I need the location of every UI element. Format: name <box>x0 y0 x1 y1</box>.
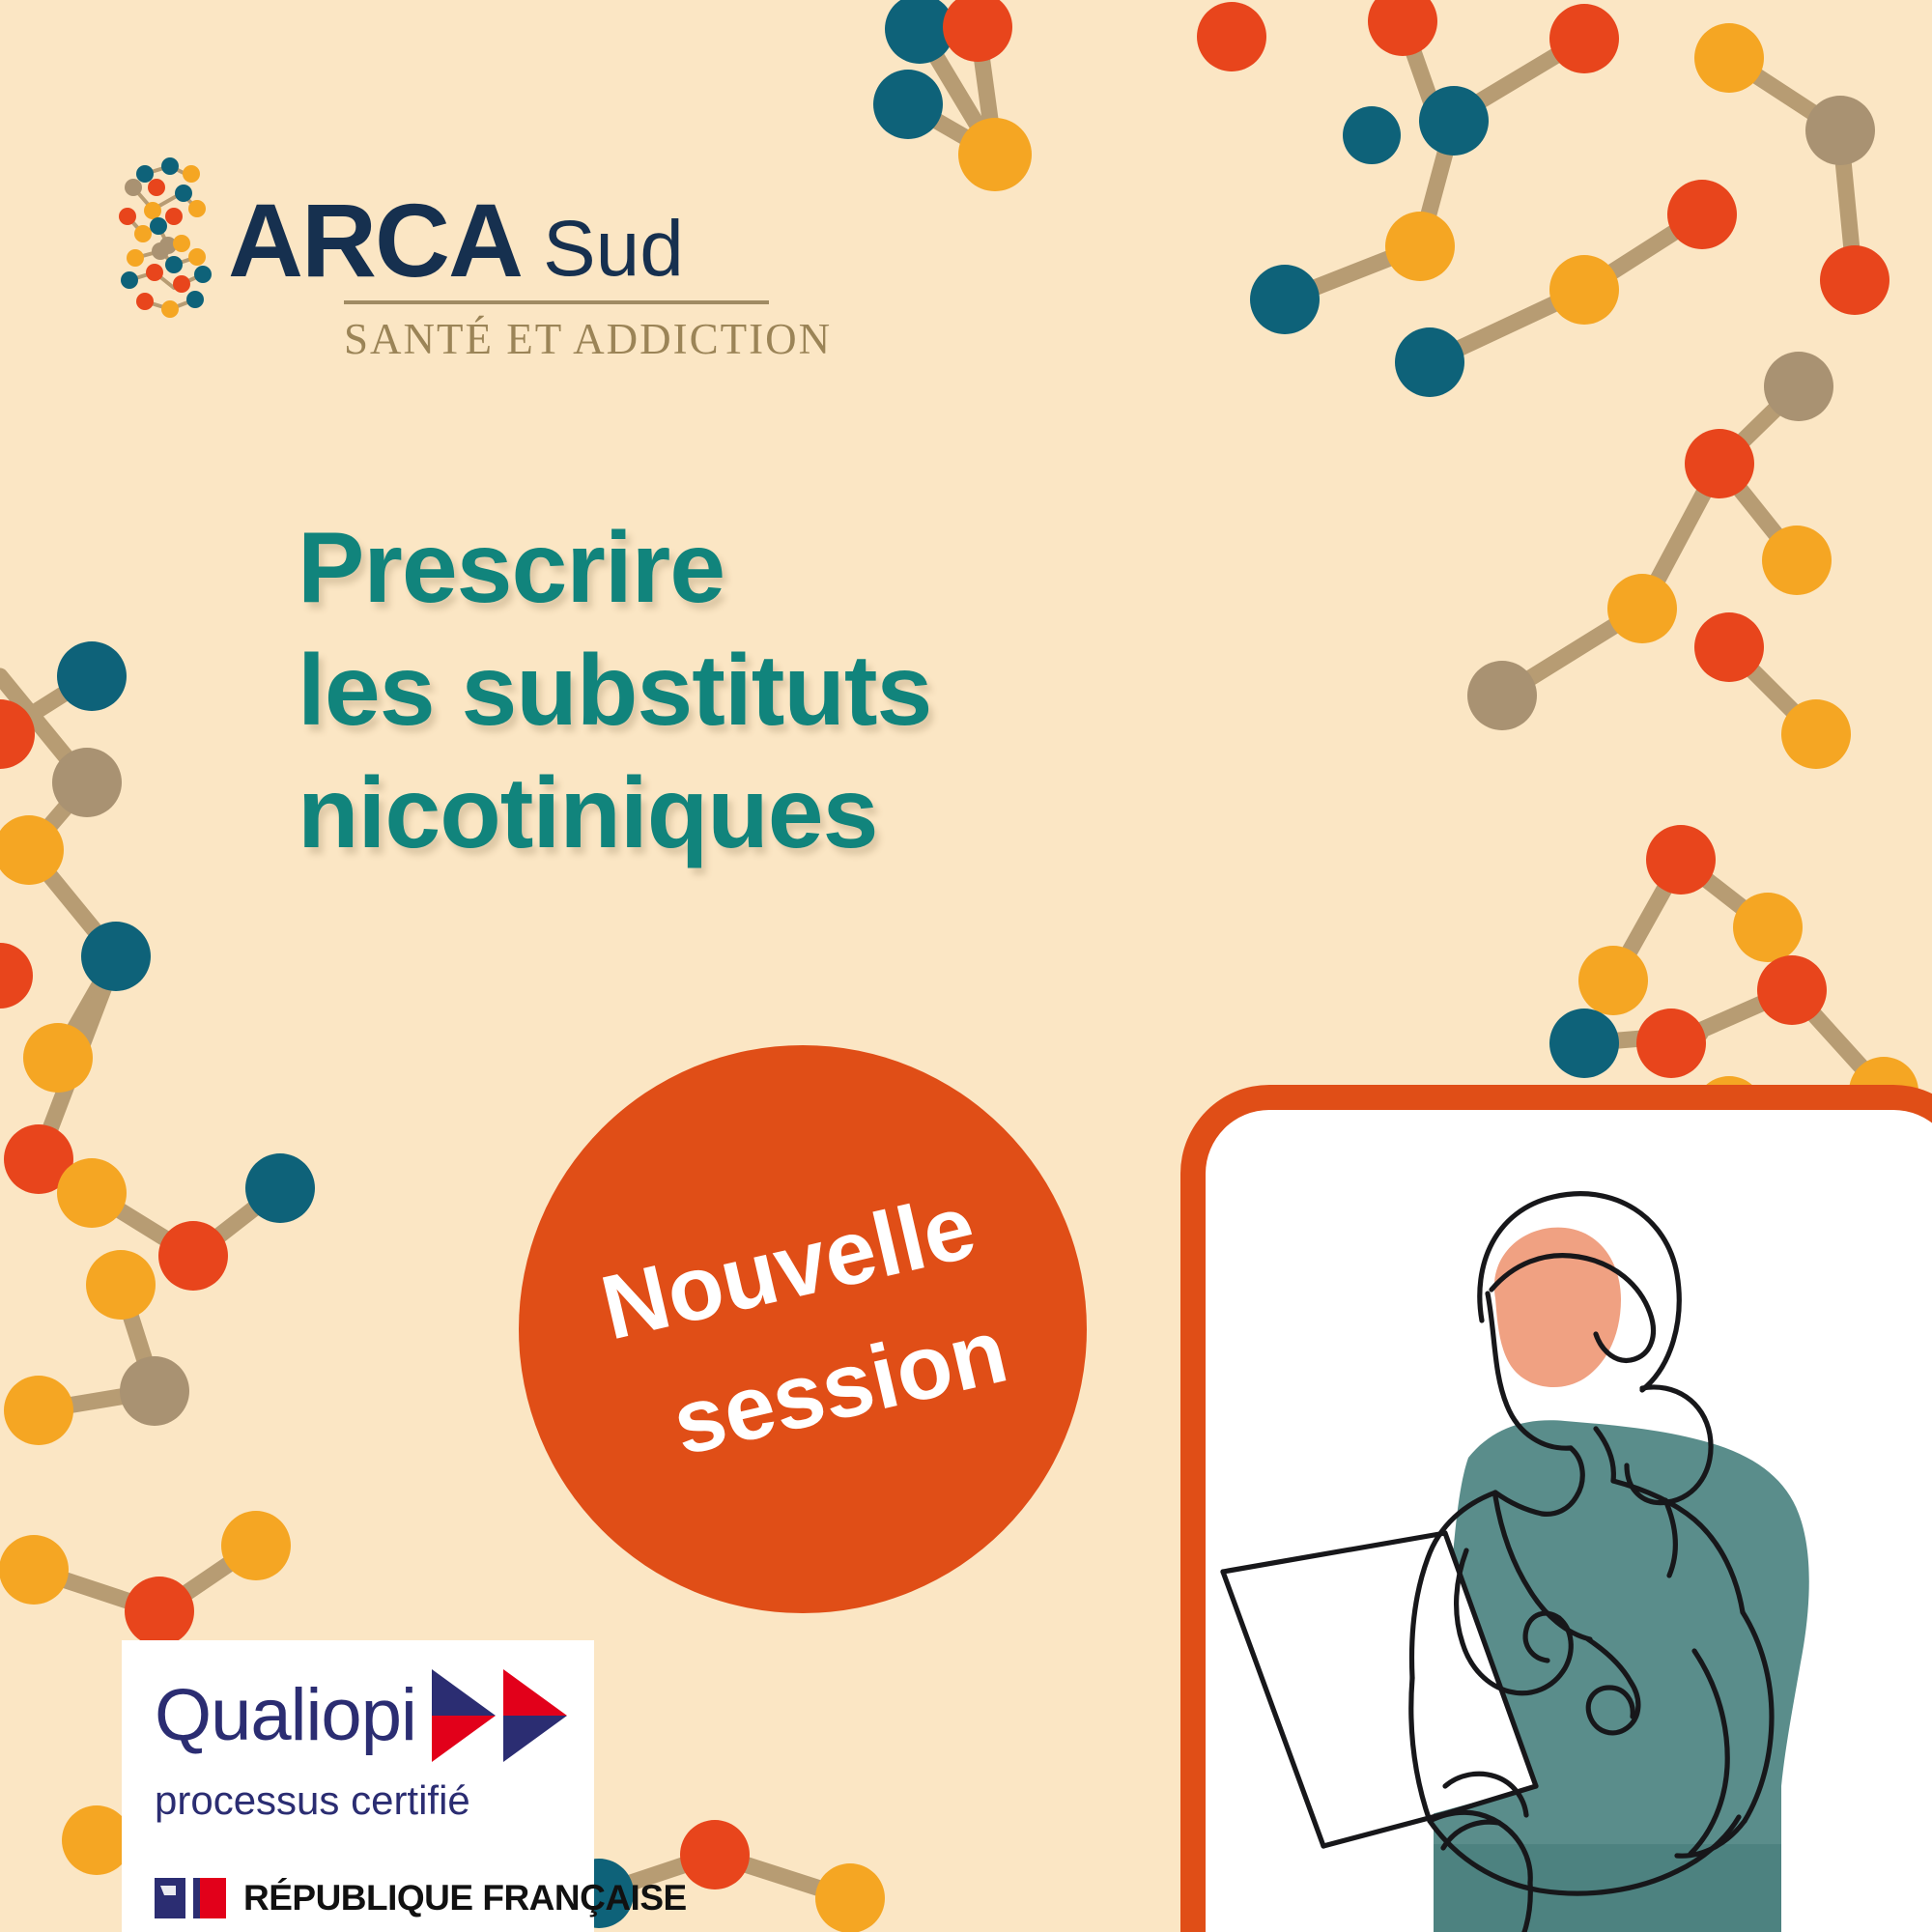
illustration-card <box>1180 1085 1932 1932</box>
healthcare-professional-line-art <box>1206 1110 1932 1932</box>
logo-region: Sud <box>543 210 684 289</box>
headline-line-3: nicotiniques <box>298 753 931 875</box>
headline-line-2: les substituts <box>298 630 931 753</box>
arca-sud-logo[interactable]: ARCA Sud SANTÉ ET ADDICTION <box>114 179 771 364</box>
republique-francaise-label: RÉPUBLIQUE FRANÇAISE <box>243 1878 687 1918</box>
headline-line-1: Prescrire <box>298 507 931 630</box>
french-flag-icon <box>155 1874 230 1922</box>
logo-tagline: SANTÉ ET ADDICTION <box>344 314 771 364</box>
qualiopi-subtitle: processus certifié <box>155 1777 573 1824</box>
new-session-badge: Nouvelle session <box>519 1045 1087 1613</box>
logo-name: ARCA <box>228 188 522 293</box>
page-title: Prescrire les substituts nicotiniques <box>298 507 931 875</box>
molecule-cluster-icon <box>114 156 222 326</box>
double-chevron-icon <box>428 1665 573 1766</box>
poster-canvas: ARCA Sud SANTÉ ET ADDICTION Prescrire le… <box>0 0 1932 1932</box>
qualiopi-name: Qualiopi <box>155 1679 416 1752</box>
qualiopi-certification-logo: Qualiopi processus certifié RÉPUBLIQUE F… <box>122 1640 594 1932</box>
logo-divider <box>344 300 769 304</box>
